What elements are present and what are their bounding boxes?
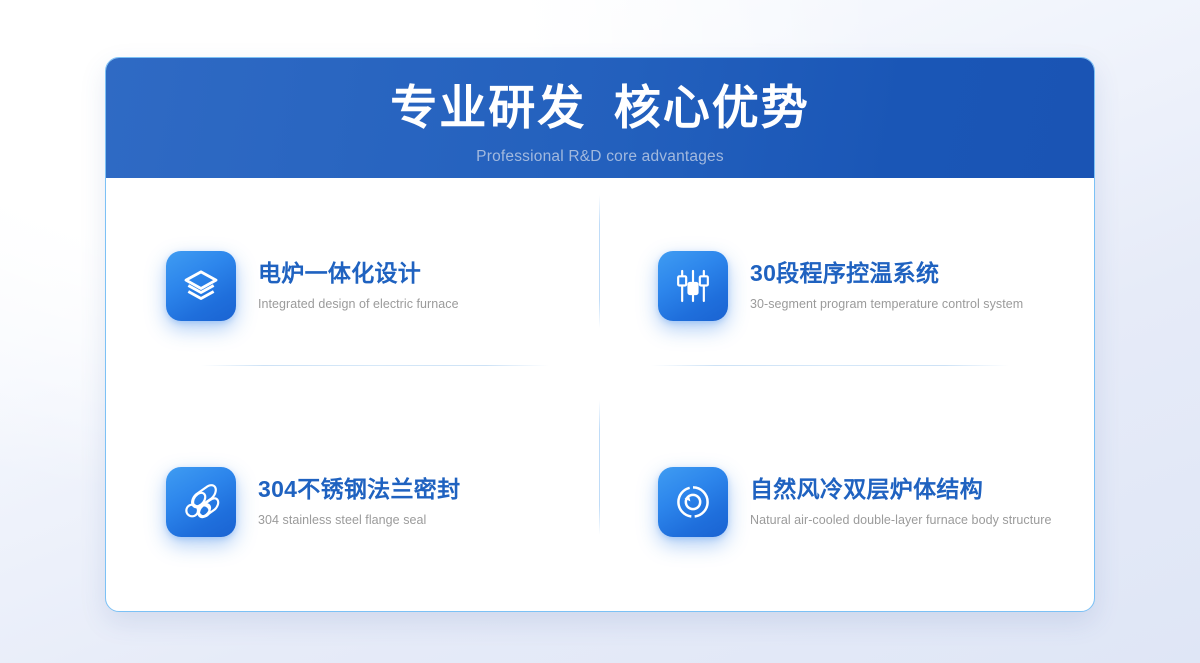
feature-item-flange-seal[interactable]: 304不锈钢法兰密封 304 stainless steel flange se… xyxy=(106,394,600,610)
features-grid: 电炉一体化设计 Integrated design of electric fu… xyxy=(106,178,1094,611)
feature-title: 自然风冷双层炉体结构 xyxy=(750,475,1051,504)
advantage-card: 专业研发 核心优势 Professional R&D core advantag… xyxy=(105,57,1095,612)
layers-icon xyxy=(181,266,221,306)
feature-desc: Integrated design of electric furnace xyxy=(258,288,459,311)
feature-desc: 30-segment program temperature control s… xyxy=(750,288,1023,311)
page-title: 专业研发 核心优势 xyxy=(106,58,1094,133)
fan-rotation-icon xyxy=(673,482,713,522)
layers-icon-tile xyxy=(166,251,236,321)
feature-text: 电炉一体化设计 Integrated design of electric fu… xyxy=(236,259,459,313)
feature-title: 304不锈钢法兰密封 xyxy=(258,475,460,504)
pipes-icon-tile xyxy=(166,467,236,537)
page-subtitle: Professional R&D core advantages xyxy=(106,133,1094,166)
feature-row: 304不锈钢法兰密封 304 stainless steel flange se… xyxy=(106,394,1094,610)
feature-title: 30段程序控温系统 xyxy=(750,259,1023,288)
feature-row: 电炉一体化设计 Integrated design of electric fu… xyxy=(106,178,1094,394)
feature-desc: 304 stainless steel flange seal xyxy=(258,504,460,527)
card-header: 专业研发 核心优势 Professional R&D core advantag… xyxy=(106,58,1094,178)
feature-text: 30段程序控温系统 30-segment program temperature… xyxy=(728,259,1023,313)
pipes-icon xyxy=(181,482,221,522)
feature-item-temperature-control[interactable]: 30段程序控温系统 30-segment program temperature… xyxy=(600,178,1094,394)
feature-item-air-cooled-structure[interactable]: 自然风冷双层炉体结构 Natural air-cooled double-lay… xyxy=(600,394,1094,610)
sliders-icon-tile xyxy=(658,251,728,321)
feature-title: 电炉一体化设计 xyxy=(258,259,459,288)
sliders-icon xyxy=(673,266,713,306)
feature-text: 自然风冷双层炉体结构 Natural air-cooled double-lay… xyxy=(728,475,1051,529)
fan-rotation-icon-tile xyxy=(658,467,728,537)
feature-text: 304不锈钢法兰密封 304 stainless steel flange se… xyxy=(236,475,460,529)
feature-item-integrated-design[interactable]: 电炉一体化设计 Integrated design of electric fu… xyxy=(106,178,600,394)
feature-desc: Natural air-cooled double-layer furnace … xyxy=(750,504,1051,527)
